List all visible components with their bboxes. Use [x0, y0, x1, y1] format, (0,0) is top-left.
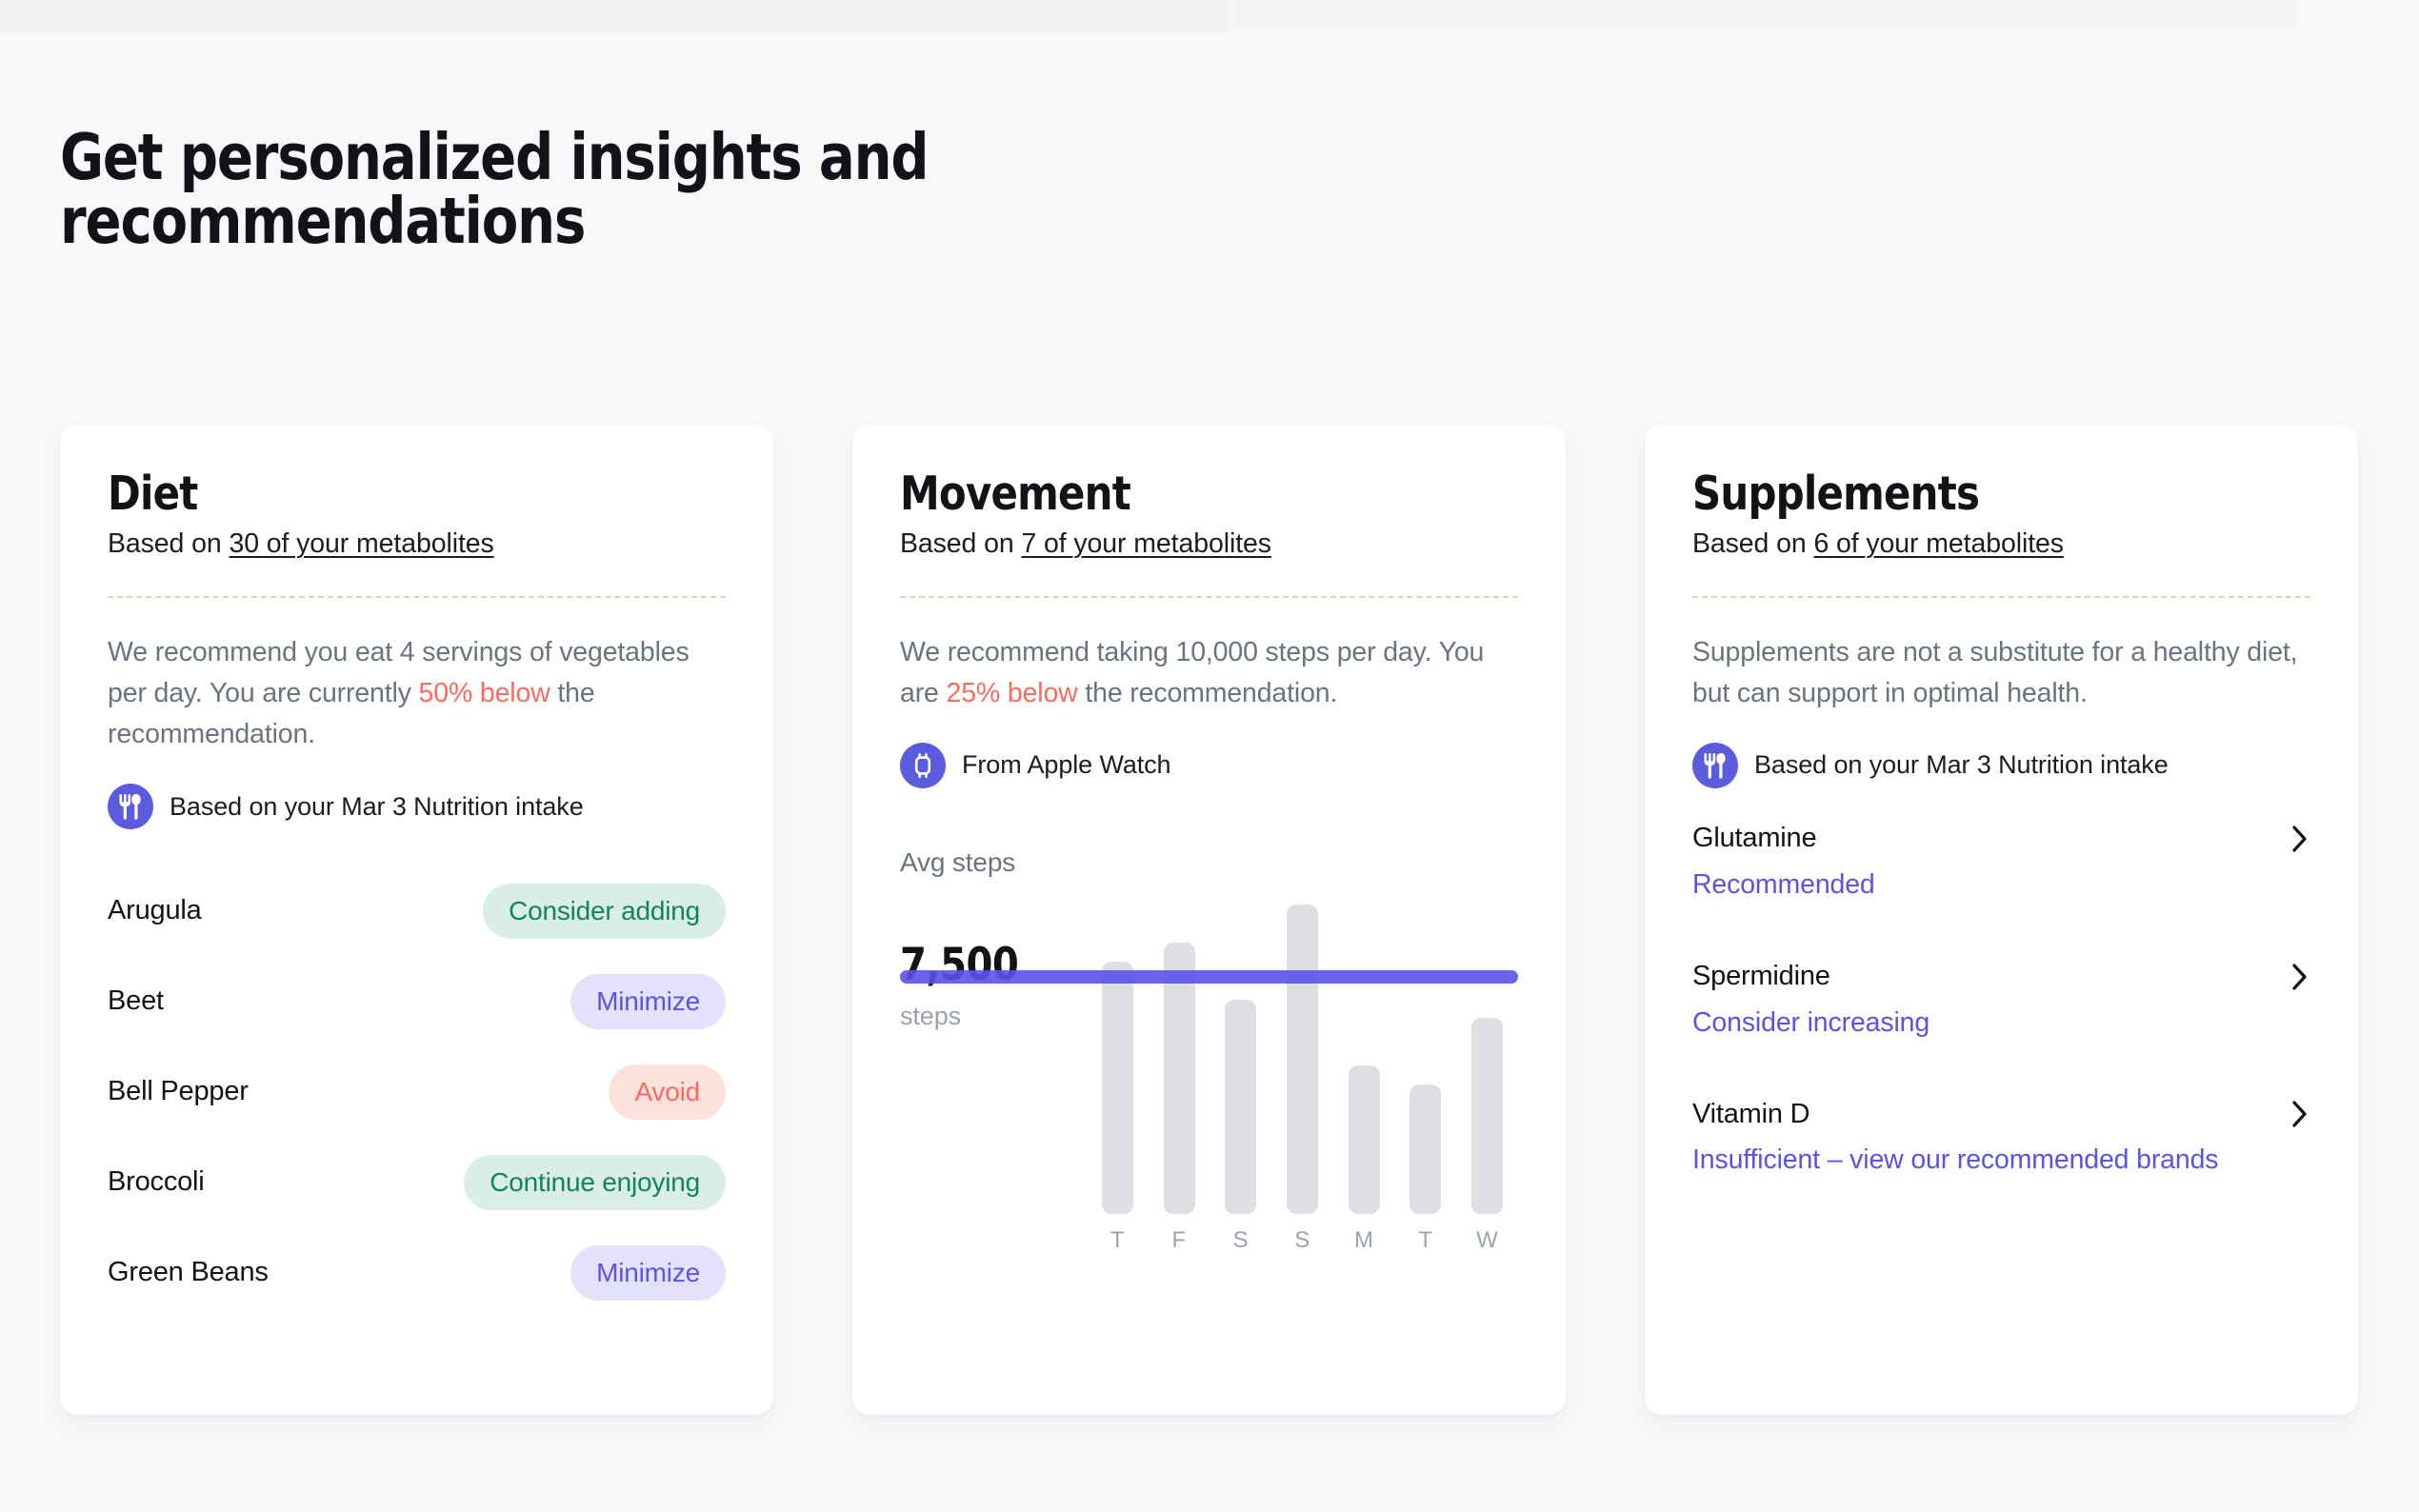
- food-name: Broccoli: [108, 1166, 205, 1198]
- chart-average-line: [900, 970, 1518, 984]
- card-supplements-source-label: Based on your Mar 3 Nutrition intake: [1754, 750, 2169, 780]
- list-item[interactable]: Spermidine Consider increasing: [1692, 961, 2310, 1070]
- card-diet-divider: [108, 596, 726, 598]
- card-movement-metabolites-link[interactable]: 7 of your metabolites: [1021, 528, 1270, 559]
- supplement-header: Spermidine: [1692, 961, 2310, 993]
- card-supplements-body: Supplements are not a substitute for a h…: [1692, 632, 2310, 714]
- insight-cards-row: Diet Based on 30 of your metabolites We …: [60, 425, 2359, 1415]
- chart-bar: [1471, 1018, 1503, 1213]
- card-supplements-divider: [1692, 596, 2310, 598]
- card-supplements-title: Supplements: [1692, 469, 2280, 520]
- list-item[interactable]: Vitamin D Insufficient – view our recomm…: [1692, 1098, 2310, 1207]
- supplement-name: Spermidine: [1692, 961, 1830, 992]
- chart-bar-column: T: [1395, 883, 1457, 1214]
- food-recommendation-badge: Minimize: [570, 974, 726, 1029]
- card-movement-source-row: From Apple Watch: [900, 743, 1518, 788]
- supplement-header: Glutamine: [1692, 823, 2310, 855]
- fork-knife-icon: [108, 784, 153, 829]
- chart-bar: [1102, 962, 1133, 1214]
- food-name: Beet: [108, 985, 164, 1017]
- chart-bar-column: S: [1209, 883, 1271, 1214]
- chart-bar-column: M: [1333, 883, 1395, 1214]
- chart-caption: Avg steps: [900, 847, 1015, 878]
- card-diet-source-label: Based on your Mar 3 Nutrition intake: [170, 792, 584, 822]
- card-movement-source-label: From Apple Watch: [962, 750, 1170, 780]
- insights-page: Get personalized insights and recommenda…: [0, 0, 2419, 1512]
- diet-food-list: Arugula Consider adding Beet Minimize Be…: [108, 865, 726, 1318]
- food-name: Bell Pepper: [108, 1076, 249, 1107]
- card-supplements: Supplements Based on 6 of your metabolit…: [1645, 425, 2358, 1415]
- table-row: Bell Pepper Avoid: [108, 1046, 726, 1137]
- card-supplements-source-row: Based on your Mar 3 Nutrition intake: [1692, 743, 2310, 788]
- chart-bars: TFSSMTW: [1087, 883, 1518, 1214]
- chart-bar-column: W: [1456, 883, 1518, 1214]
- card-diet-body: We recommend you eat 4 servings of veget…: [108, 632, 726, 755]
- chevron-right-icon[interactable]: [2289, 823, 2310, 855]
- card-diet-subtitle-prefix: Based on: [108, 528, 229, 559]
- chart-bar: [1349, 1065, 1380, 1214]
- chart-bar: [1225, 1000, 1256, 1214]
- food-name: Arugula: [108, 895, 202, 926]
- table-row: Green Beans Minimize: [108, 1227, 726, 1318]
- card-movement-body-suffix: the recommendation.: [1078, 678, 1338, 708]
- card-movement-subtitle: Based on 7 of your metabolites: [900, 528, 1518, 560]
- chart-x-tick-label: T: [1110, 1227, 1125, 1254]
- food-name: Green Beans: [108, 1257, 269, 1288]
- chart-bar-column: T: [1087, 883, 1149, 1214]
- food-recommendation-badge: Avoid: [609, 1064, 726, 1120]
- food-recommendation-badge: Minimize: [570, 1245, 726, 1301]
- avg-steps-chart: Avg steps 7,500 steps TFSSMTW: [900, 847, 1518, 1257]
- apple-watch-icon: [900, 743, 946, 788]
- supplements-list: Glutamine Recommended Spermidine: [1692, 823, 2310, 1207]
- chart-x-tick-label: M: [1354, 1227, 1373, 1254]
- card-movement-body-highlight: 25% below: [947, 678, 1078, 708]
- card-diet-body-highlight: 50% below: [419, 678, 550, 708]
- card-diet-title: Diet: [108, 469, 695, 520]
- card-diet-metabolites-link[interactable]: 30 of your metabolites: [229, 528, 493, 559]
- card-supplements-metabolites-link[interactable]: 6 of your metabolites: [1813, 528, 2063, 559]
- card-supplements-subtitle: Based on 6 of your metabolites: [1692, 528, 2310, 560]
- chart-units-label: steps: [900, 1002, 961, 1031]
- supplement-status: Insufficient – view our recommended bran…: [1692, 1140, 2273, 1181]
- supplement-header: Vitamin D: [1692, 1098, 2310, 1130]
- table-row: Arugula Consider adding: [108, 865, 726, 956]
- fork-knife-icon: [1692, 743, 1738, 788]
- window-top-band-secondary: [1230, 0, 2297, 26]
- card-diet: Diet Based on 30 of your metabolites We …: [60, 425, 773, 1415]
- list-item[interactable]: Glutamine Recommended: [1692, 823, 2310, 932]
- supplement-name: Vitamin D: [1692, 1099, 1809, 1130]
- chart-x-tick-label: W: [1476, 1227, 1498, 1254]
- supplement-name: Glutamine: [1692, 823, 1816, 854]
- card-diet-source-row: Based on your Mar 3 Nutrition intake: [108, 784, 726, 829]
- chart-bar: [1287, 905, 1318, 1214]
- chart-x-tick-label: S: [1294, 1227, 1309, 1254]
- chart-x-tick-label: F: [1172, 1227, 1187, 1254]
- chart-bar-column: S: [1271, 883, 1333, 1214]
- food-recommendation-badge: Continue enjoying: [464, 1155, 726, 1210]
- window-top-band: [0, 0, 1230, 31]
- chart-x-tick-label: S: [1233, 1227, 1249, 1254]
- table-row: Beet Minimize: [108, 956, 726, 1046]
- chart-bar: [1409, 1084, 1441, 1214]
- chart-bar-column: F: [1149, 883, 1210, 1214]
- supplement-status: Consider increasing: [1692, 1003, 2273, 1044]
- card-diet-body-prefix: We recommend you eat 4 servings of veget…: [108, 637, 690, 708]
- card-movement-body: We recommend taking 10,000 steps per day…: [900, 632, 1518, 714]
- card-diet-subtitle: Based on 30 of your metabolites: [108, 528, 726, 560]
- page-title-line-2: recommendations: [60, 189, 1123, 253]
- card-movement-subtitle-prefix: Based on: [900, 528, 1021, 559]
- card-movement-title: Movement: [900, 469, 1488, 520]
- table-row: Broccoli Continue enjoying: [108, 1137, 726, 1227]
- page-title: Get personalized insights and recommenda…: [60, 126, 1123, 253]
- chart-x-tick-label: T: [1418, 1227, 1432, 1254]
- card-movement: Movement Based on 7 of your metabolites …: [852, 425, 1566, 1415]
- chevron-right-icon[interactable]: [2289, 961, 2310, 993]
- food-recommendation-badge: Consider adding: [483, 884, 726, 939]
- supplement-status: Recommended: [1692, 865, 2273, 905]
- card-movement-divider: [900, 596, 1518, 598]
- chevron-right-icon[interactable]: [2289, 1098, 2310, 1130]
- card-supplements-subtitle-prefix: Based on: [1692, 528, 1813, 559]
